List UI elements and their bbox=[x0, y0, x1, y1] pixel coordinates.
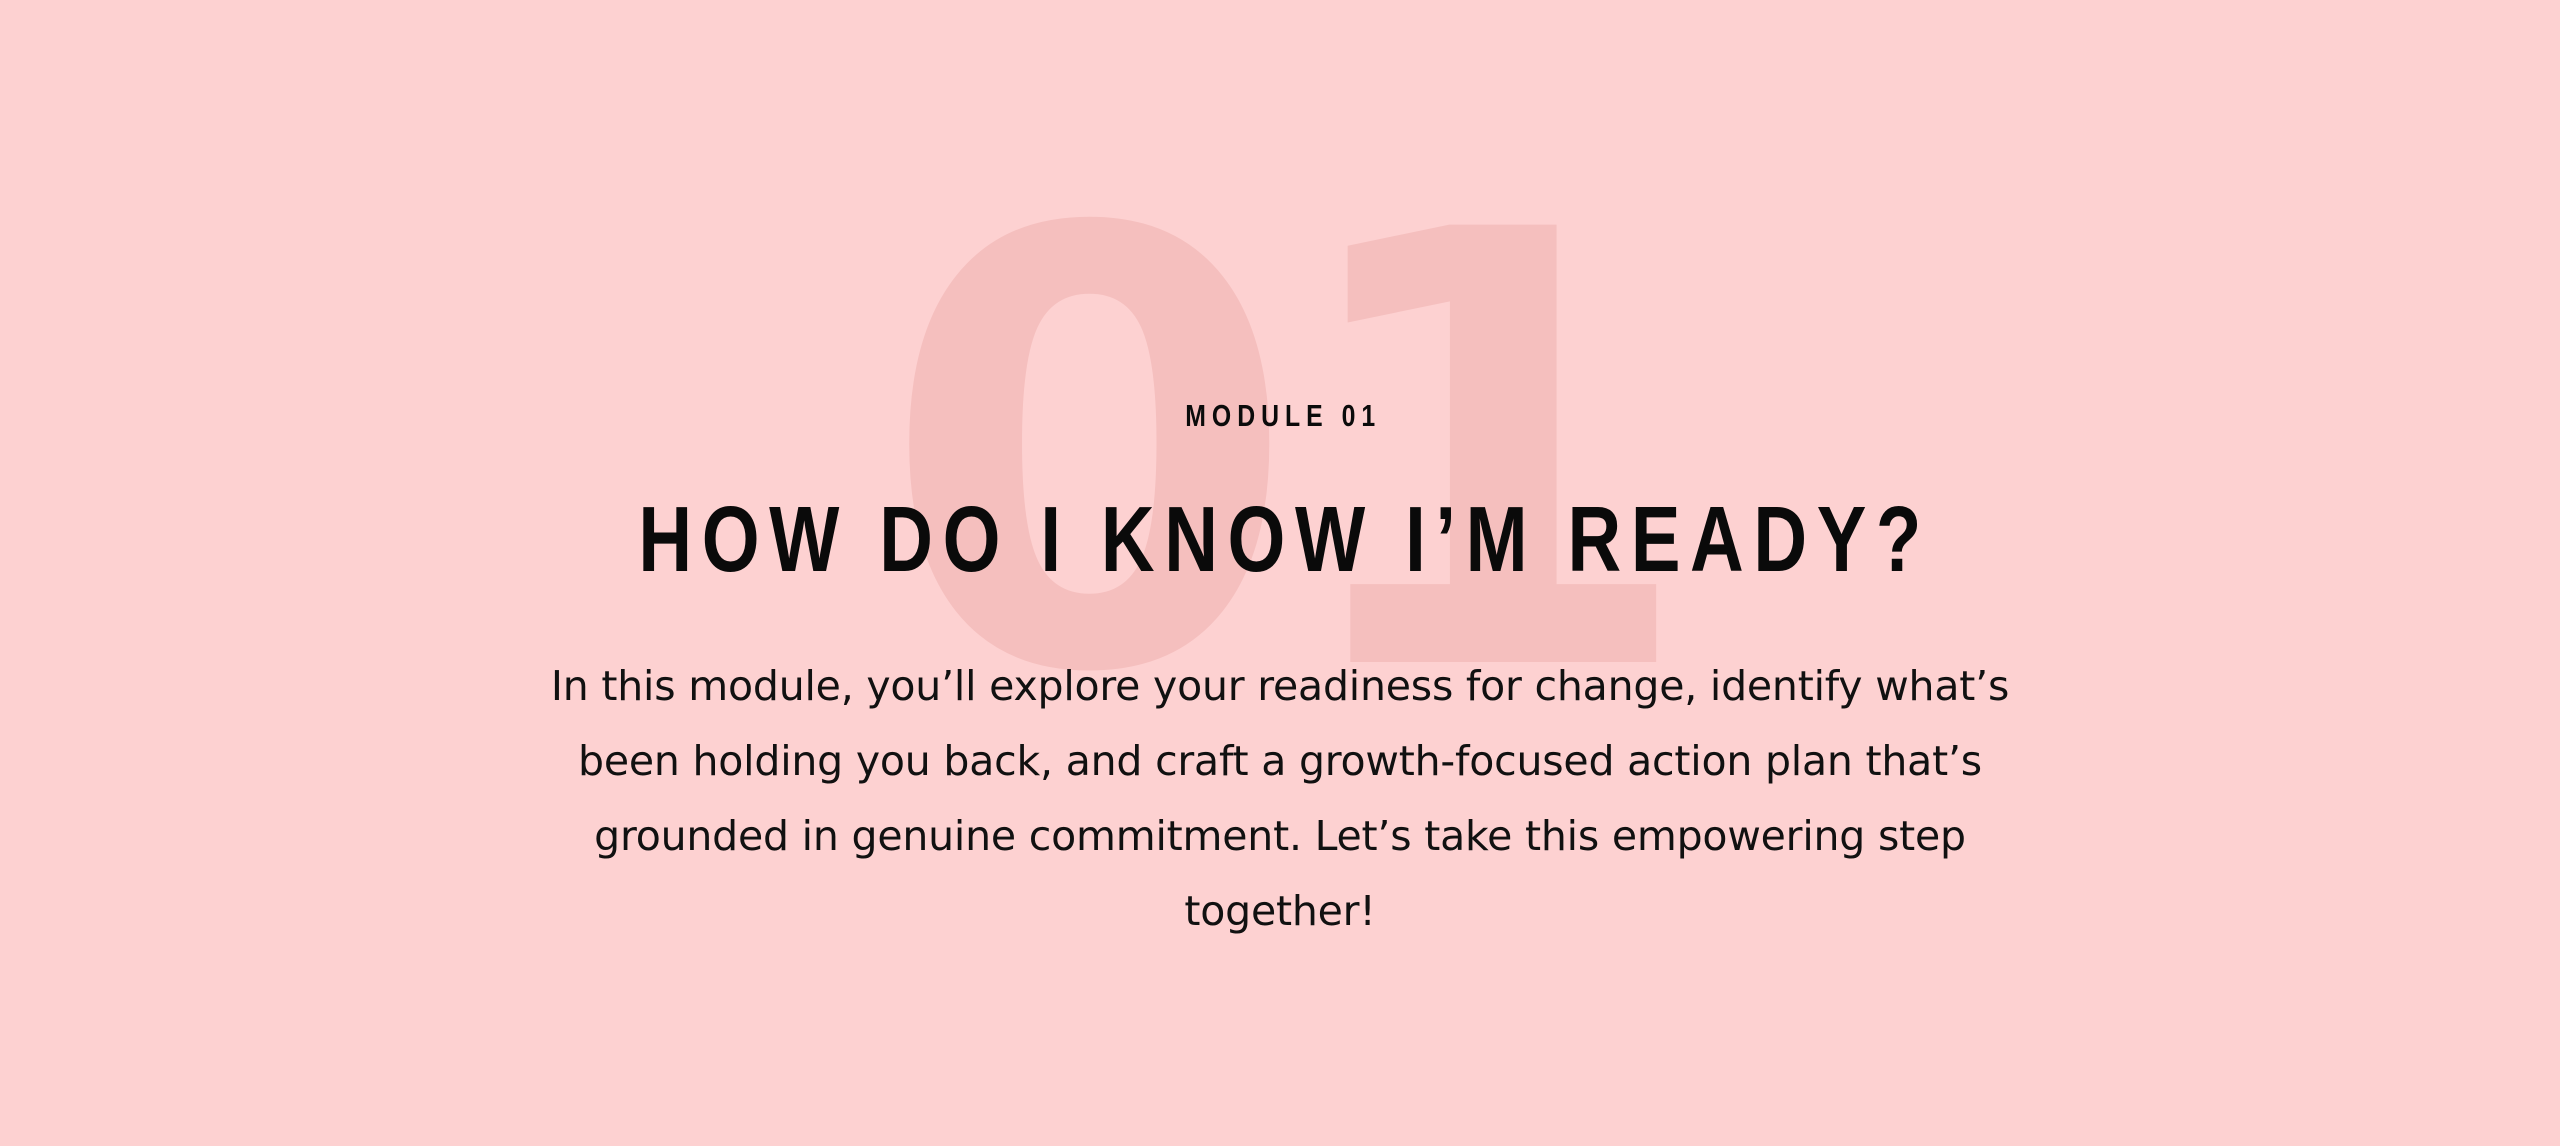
module-eyebrow-label: MODULE 01 bbox=[1179, 400, 1381, 431]
page-title: HOW DO I KNOW I’M READY? bbox=[629, 493, 1931, 586]
module-hero-section: 01 MODULE 01 HOW DO I KNOW I’M READY? In… bbox=[0, 0, 2560, 1146]
hero-content: MODULE 01 HOW DO I KNOW I’M READY? In th… bbox=[0, 0, 2560, 949]
module-description: In this module, you’ll explore your read… bbox=[540, 649, 2020, 949]
